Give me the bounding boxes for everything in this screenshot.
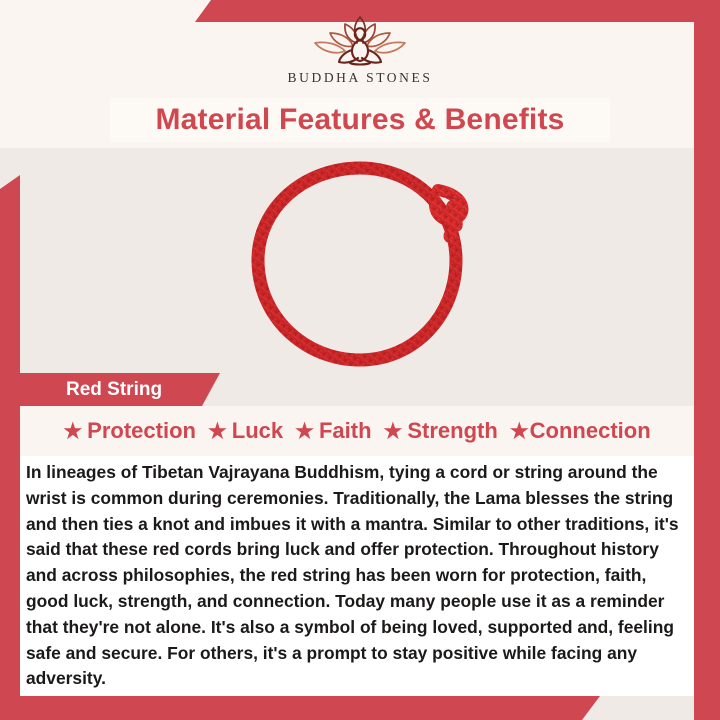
product-image-red-string-bracelet xyxy=(228,152,498,380)
frame-left-bar xyxy=(0,175,20,696)
page-title: Material Features & Benefits xyxy=(155,103,564,137)
benefit-label: Luck xyxy=(232,418,283,444)
benefit-item-connection: ★ Connection xyxy=(510,418,651,444)
description-panel: In lineages of Tibetan Vajrayana Buddhis… xyxy=(20,456,694,696)
star-icon: ★ xyxy=(63,421,82,442)
benefits-list: ★ Protection ★ Luck ★ Faith ★ Strength ★… xyxy=(20,406,694,456)
product-label-banner: Red String xyxy=(20,373,220,406)
star-icon: ★ xyxy=(510,421,529,442)
title-banner: Material Features & Benefits xyxy=(110,98,610,142)
benefit-label: Faith xyxy=(319,418,372,444)
star-icon: ★ xyxy=(384,421,403,442)
benefit-item-luck: ★ Luck xyxy=(208,418,283,444)
benefit-item-faith: ★ Faith xyxy=(295,418,371,444)
brand-logo: BUDDHA STONES xyxy=(0,14,720,92)
benefit-item-strength: ★ Strength xyxy=(384,418,498,444)
benefit-item-protection: ★ Protection xyxy=(63,418,196,444)
frame-right-bar xyxy=(694,0,720,720)
benefit-label: Strength xyxy=(407,418,497,444)
brand-name: BUDDHA STONES xyxy=(288,70,433,86)
frame-bottom-bar xyxy=(0,696,600,720)
benefit-label: Connection xyxy=(530,418,651,444)
benefit-label: Protection xyxy=(87,418,196,444)
lotus-meditation-icon xyxy=(306,14,414,68)
description-paragraph: In lineages of Tibetan Vajrayana Buddhis… xyxy=(20,460,694,692)
star-icon: ★ xyxy=(295,421,314,442)
product-label-text: Red String xyxy=(20,379,162,401)
infographic-canvas: BUDDHA STONES Material Features & Benefi… xyxy=(0,0,720,720)
star-icon: ★ xyxy=(208,421,227,442)
